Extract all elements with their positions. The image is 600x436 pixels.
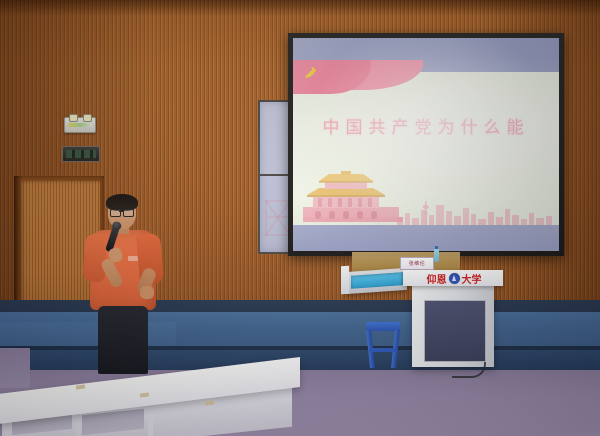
university-emblem-icon xyxy=(449,273,460,284)
hammer-and-sickle-emblem-icon xyxy=(302,65,318,80)
glasses-icon xyxy=(110,209,134,215)
water-bottle[interactable] xyxy=(434,249,439,262)
lecture-hall-scene: 中国共产党为什么能 xyxy=(0,0,600,436)
emergency-light-bulb-left-icon xyxy=(69,114,78,122)
podium-logo-text-left: 仰恩 xyxy=(427,271,447,286)
glasses-lens-right xyxy=(123,209,134,217)
front-row-desk xyxy=(0,376,300,436)
emergency-light-strip xyxy=(68,123,92,127)
front-row-desk-divider-3 xyxy=(148,406,153,436)
podium-logo-text-right: 大学 xyxy=(462,271,482,286)
glasses-bridge xyxy=(119,211,123,212)
speaker-name-card: 张维伦 xyxy=(400,257,434,270)
speaker-sleeve-left xyxy=(82,233,107,282)
exit-sign xyxy=(62,146,100,162)
speaker xyxy=(84,196,164,374)
city-skyline-illustration-icon xyxy=(395,199,555,225)
projection-screen-frame: 中国共产党为什么能 xyxy=(288,33,564,256)
exit-sign-face xyxy=(66,150,96,158)
tiananmen-gate-illustration-icon xyxy=(299,169,409,225)
speaker-pants xyxy=(98,306,148,374)
keyboard-drawer[interactable] xyxy=(345,268,407,294)
podium-university-logo: 仰恩 大学 xyxy=(406,271,502,286)
emergency-light-bulb-right-icon xyxy=(83,114,92,122)
stool-crossbar xyxy=(369,348,397,352)
keyboard-drawer-front[interactable] xyxy=(341,266,349,295)
slide-title: 中国共产党为什么能 xyxy=(293,113,559,138)
blue-step-stool[interactable] xyxy=(366,322,400,368)
emergency-light xyxy=(64,117,96,133)
podium-front-panel xyxy=(424,300,486,362)
keyboard-drawer-interior xyxy=(351,272,403,289)
projection-screen[interactable]: 中国共产党为什么能 xyxy=(293,38,559,251)
slide-bottom-band xyxy=(293,225,559,251)
speaker-hand-right xyxy=(140,286,154,299)
